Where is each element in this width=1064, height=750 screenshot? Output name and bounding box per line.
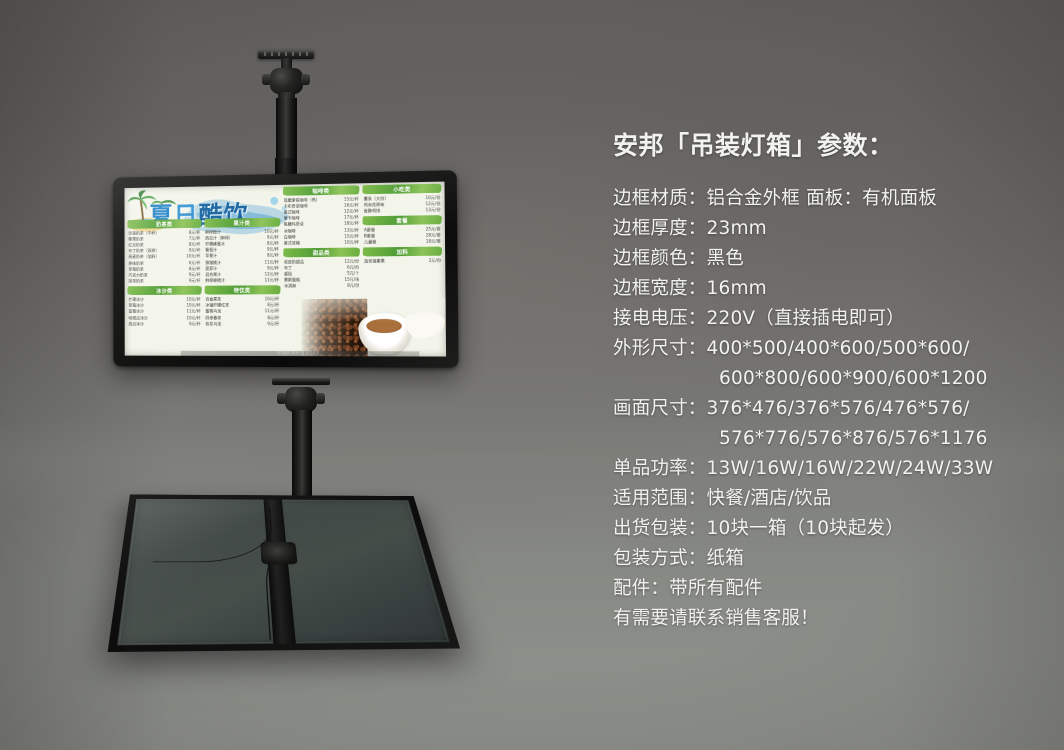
menu-section-header-label: 小吃类 [393,185,410,193]
spec-line: 600*800/600*900/600*1200 [613,364,1043,394]
menu-item-name: 桂花乌龙 [205,321,221,327]
rear-aluminum-frame [108,494,460,652]
menu-item-name: 抹茶奶茶 [128,279,143,285]
rear-panel-sheen [117,499,450,646]
spec-list: 边框材质：铝合金外框 面板：有机面板边框厚度：23mm边框颜色：黑色边框宽度：1… [613,184,1043,634]
menu-section-header: 果汁类 [204,218,280,228]
menu-item-price: 18元/套 [424,238,441,245]
spec-line: 画面尺寸：376*476/376*576/476*576/ [613,394,1043,424]
menu-section-header: 冰沙类 [127,286,201,295]
menu-item-price: 11元/杯 [263,278,279,284]
adjust-knob-left [262,74,271,85]
mounting-holes [264,52,308,56]
lower-adjust-knob-right [316,393,325,404]
menu-section-header: 小吃类 [363,184,442,195]
aluminum-frame: 夏日酷饮 奶茶类珍珠奶茶（中杯）8元/杯椰果奶茶7元/杯红豆奶茶8元/杯布丁奶茶… [113,170,458,368]
menu-section-header: 加料 [363,247,442,257]
product-photo-scene: 夏日酷饮 奶茶类珍珠奶茶（中杯）8元/杯椰果奶茶7元/杯红豆奶茶8元/杯布丁奶茶… [0,0,1064,750]
adjust-knob-right [301,74,310,85]
menu-item-price: 13元/份 [423,207,440,214]
spec-line: 包装方式：纸箱 [613,544,1043,574]
menu-section: 冰沙类芒果冰沙10元/杯草莓冰沙10元/杯蓝莓冰沙11元/杯哈密瓜冰沙10元/杯… [127,286,201,327]
menu-section: 咖啡类现磨拿铁咖啡（热）15元/杯卡布奇诺咖啡16元/杯美式咖啡12元/杯摩卡咖… [282,185,360,246]
spec-line: 有需要请联系销售客服！ [613,604,1043,634]
menu-column: 果汁类鲜榨橙汁10元/杯西瓜汁（鲜榨）9元/杯柠檬蜂蜜水8元/杯葡萄汁9元/杯苹… [204,187,280,354]
menu-section-header-label: 特饮类 [234,286,251,294]
menu-footer-strip: 夏日酷饮 清凉一夏 欢迎品尝 [180,351,419,357]
menu-section-header-label: 加料 [397,248,409,256]
menu-section: 加料加珍珠椰果2元/份 [363,247,442,265]
menu-section-header-label: 套餐 [396,216,408,224]
spec-line: 576*776/576*876/576*1176 [613,424,1043,454]
swivel-joint-icon [270,68,303,94]
menu-item-row: 鲜榨柳橙汁11元/杯 [204,277,280,284]
menu-item-row: 桂花乌龙9元/杯 [204,321,280,327]
spec-line: 边框宽度：16mm [613,274,1043,304]
menu-section-header-label: 冰沙类 [156,287,172,295]
menu-section-header: 特饮类 [204,286,280,295]
menu-item-row: 加珍珠椰果2元/份 [363,257,442,264]
menu-section-header: 咖啡类 [282,185,359,195]
light-box-rear-view [108,494,460,652]
spec-title: 安邦「吊装灯箱」参数： [613,126,1043,162]
menu-item-price: 2元/份 [427,257,442,263]
menu-item-price: 9元/杯 [265,321,279,327]
spec-panel: 安邦「吊装灯箱」参数： 边框材质：铝合金外框 面板：有机面板边框厚度：23mm边… [613,126,1043,634]
spec-line: 出货包装：10块一箱（10块起发） [613,514,1043,544]
menu-section: 小吃类薯条（大份）10元/份鸡米花原味12元/份香酥鸡排13元/份 [363,184,442,215]
menu-section-header: 甜品类 [283,248,360,258]
spec-line: 边框颜色：黑色 [613,244,1043,274]
lower-adjust-knob-left [277,393,286,404]
menu-item-name: 香酥鸡排 [364,208,381,215]
menu-item-name: 鲜榨柳橙汁 [205,278,225,284]
spec-line: 边框厚度：23mm [613,214,1043,244]
spec-line: 边框材质：铝合金外框 面板：有机面板 [613,184,1043,214]
rear-back-panel [117,499,450,646]
menu-item-name: 西瓜冰沙 [128,321,143,327]
spec-line: 适用范围：快餐/酒店/饮品 [613,484,1043,514]
hanging-light-box: 夏日酷饮 奶茶类珍珠奶茶（中杯）8元/杯椰果奶茶7元/杯红豆奶茶8元/杯布丁奶茶… [113,170,458,368]
menu-item-name: 加珍珠椰果 [364,258,385,264]
photo-fade-overlay [301,299,446,357]
lower-mount-plate [272,378,330,385]
spec-line: 外形尺寸：400*500/400*600/500*600/ [613,334,1043,364]
menu-item-row: 香酥鸡排13元/份 [363,207,442,215]
coffee-photo [301,299,446,357]
menu-item-name: 儿童餐 [364,239,376,245]
spec-line: 单品功率：13W/16W/16W/22W/24W/33W [613,454,1043,484]
menu-item-name: 意式浓缩 [284,240,300,246]
spec-line: 接电电压：220V（直接插电即可） [613,304,1043,334]
menu-item-price: 9元/杯 [187,278,201,284]
menu-item-row: 儿童餐18元/套 [363,238,442,245]
menu-section-header-label: 咖啡类 [312,186,329,194]
menu-display-panel: 夏日酷饮 奶茶类珍珠奶茶（中杯）8元/杯椰果奶茶7元/杯红豆奶茶8元/杯布丁奶茶… [124,182,446,357]
menu-section-header-label: 甜品类 [313,248,330,256]
menu-item-name: 冰淇淋 [284,284,296,290]
menu-section: 甜品类双皮奶甜品12元/份布丁6元/份蛋挞5元/个慕斯蛋糕15元/块冰淇淋8元/… [283,248,361,290]
menu-section-header-label: 奶茶类 [156,220,172,228]
menu-item-row: 西瓜冰沙9元/杯 [128,321,202,327]
menu-section: 特饮类百香果茶10元/杯冰镇柠檬红茶8元/杯蜜桃乌龙11元/杯四季春茶8元/杯桂… [204,286,280,327]
lower-swivel-joint-icon [285,387,317,412]
menu-section-header-label: 果汁类 [233,219,250,227]
menu-section-header: 奶茶类 [127,219,201,229]
menu-section-header: 套餐 [363,215,442,225]
menu-item-price: 8元/份 [345,283,359,289]
menu-item-price: 10元/杯 [342,239,359,245]
menu-section: 果汁类鲜榨橙汁10元/杯西瓜汁（鲜榨）9元/杯柠檬蜂蜜水8元/杯葡萄汁9元/杯苹… [204,218,280,284]
menu-item-row: 冰淇淋8元/份 [283,283,360,290]
spec-line: 配件：带所有配件 [613,574,1043,604]
menu-column: 奶茶类珍珠奶茶（中杯）8元/杯椰果奶茶7元/杯红豆奶茶8元/杯布丁奶茶（双拼）9… [127,189,201,354]
menu-section: 套餐A套餐25元/套B套餐28元/套儿童餐18元/套 [363,215,442,245]
menu-item-price: 9元/杯 [187,321,201,327]
menu-section: 奶茶类珍珠奶茶（中杯）8元/杯椰果奶茶7元/杯红豆奶茶8元/杯布丁奶茶（双拼）9… [127,219,201,285]
menu-item-row: 抹茶奶茶9元/杯 [127,278,201,285]
menu-item-row: 意式浓缩10元/杯 [283,239,360,246]
